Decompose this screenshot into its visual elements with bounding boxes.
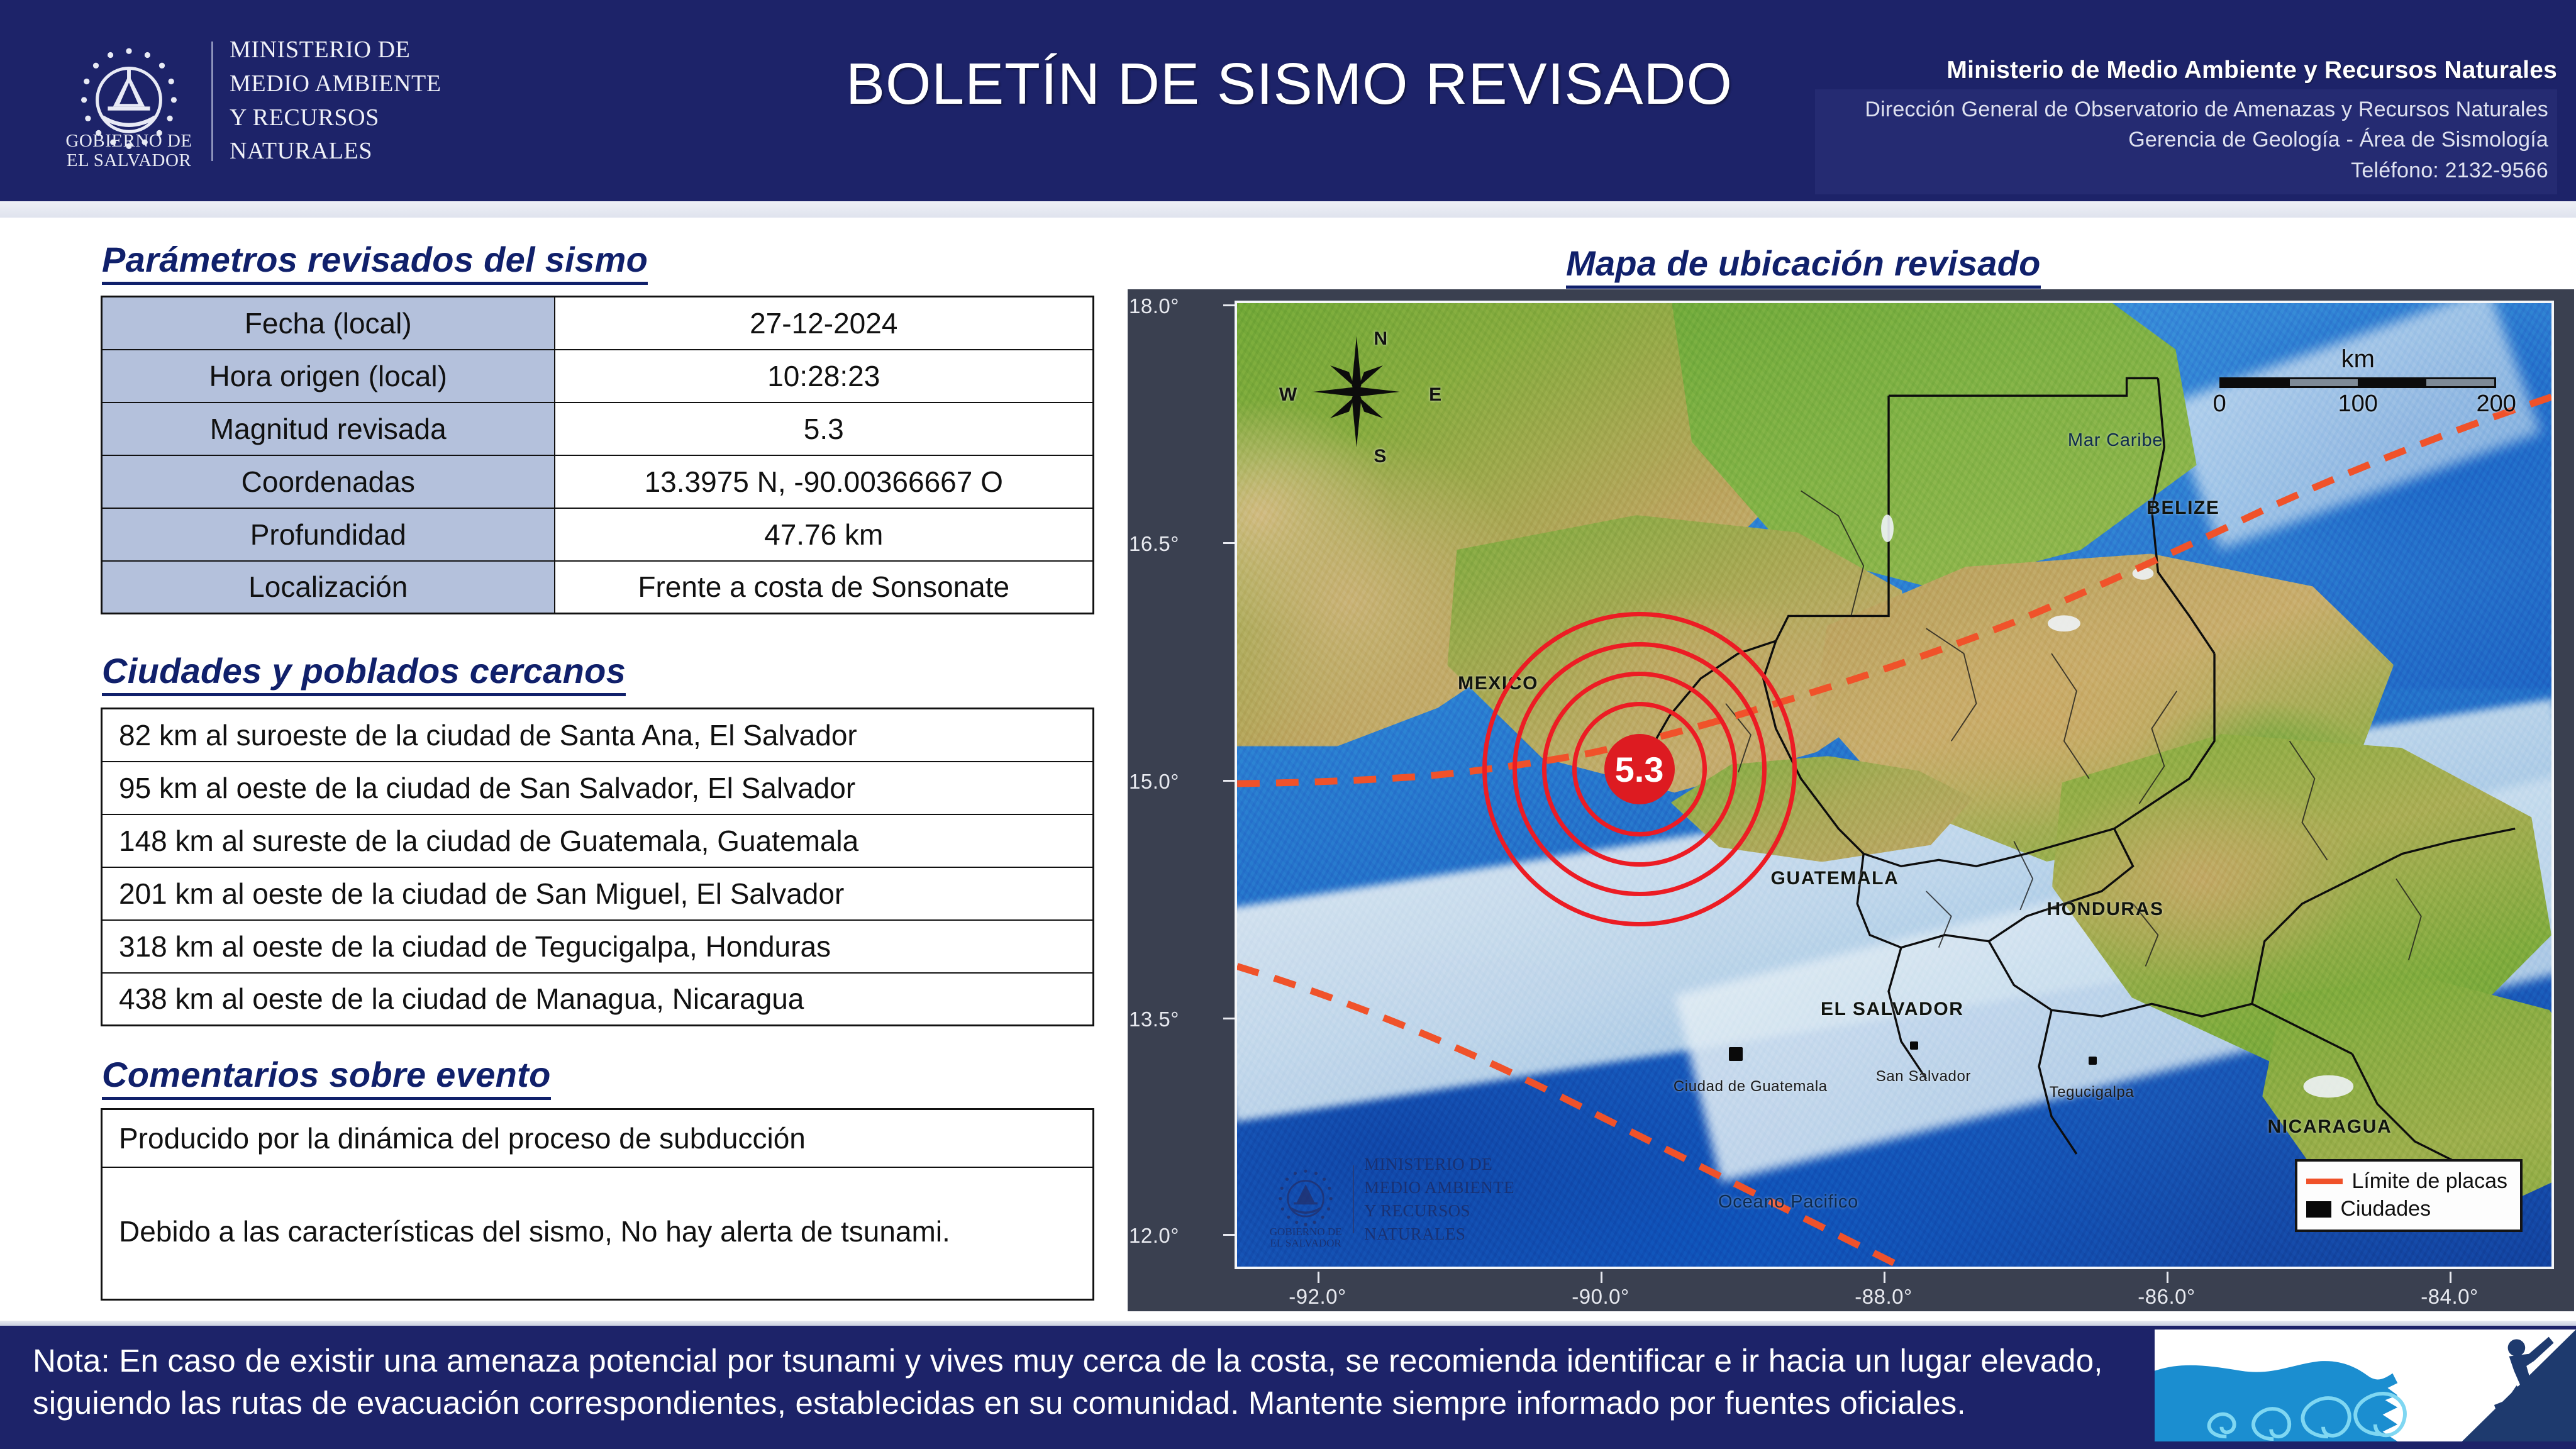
table-row: Localización Frente a costa de Sonsonate xyxy=(102,561,1094,614)
param-label-fecha: Fecha (local) xyxy=(102,297,555,350)
param-label-profundidad: Profundidad xyxy=(102,508,555,561)
lon-tick-mark-90 xyxy=(1601,1272,1602,1283)
map-label-el-salvador: EL SALVADOR xyxy=(1821,999,1964,1020)
logo-divider xyxy=(211,42,213,161)
header-ministry-title: Ministerio de Medio Ambiente y Recursos … xyxy=(1815,57,2557,84)
legend-item-plate-boundary: Límite de placas xyxy=(2306,1168,2507,1196)
scale-tick-0: 0 xyxy=(2213,391,2226,418)
header-department-lines: Dirección General de Observatorio de Ame… xyxy=(1815,89,2557,194)
seal-caption-line-2: EL SALVADOR xyxy=(63,151,195,170)
header-bottom-strip xyxy=(0,201,2576,218)
map-label-guatemala: GUATEMALA xyxy=(1771,868,1899,889)
tsunami-advisory-note: Nota: En caso de existir una amenaza pot… xyxy=(33,1340,2121,1424)
legend-item-cities: Ciudades xyxy=(2306,1196,2507,1223)
param-label-hora: Hora origen (local) xyxy=(102,350,555,402)
city-row-4: 201 km al oeste de la ciudad de San Migu… xyxy=(102,867,1094,920)
comment-row-2: Debido a las características del sismo, … xyxy=(102,1167,1094,1299)
lon-tick-86: -86.0° xyxy=(2116,1285,2217,1309)
lon-tick-mark-92 xyxy=(1318,1272,1319,1283)
lon-tick-mark-84 xyxy=(2450,1272,2451,1283)
compass-label-e: E xyxy=(1429,384,1441,406)
city-row-6: 438 km al oeste de la ciudad de Managua,… xyxy=(102,973,1094,1026)
watermark-gov-line-1: GOBIERNO DE xyxy=(1265,1226,1346,1238)
scale-seg-2 xyxy=(2290,379,2358,386)
earthquake-parameters-table: Fecha (local) 27-12-2024 Hora origen (lo… xyxy=(101,296,1094,614)
watermark-gov-line-2: EL SALVADOR xyxy=(1265,1238,1346,1249)
table-row: 438 km al oeste de la ciudad de Managua,… xyxy=(102,973,1094,1026)
compass-label-s: S xyxy=(1374,446,1386,467)
lon-tick-mark-88 xyxy=(1884,1272,1885,1283)
legend-label-plate-boundary: Límite de placas xyxy=(2351,1169,2507,1194)
header-dept-line-1: Dirección General de Observatorio de Ame… xyxy=(1824,94,2548,125)
seal-caption-line-1: GOBIERNO DE xyxy=(63,131,195,151)
legend-label-cities: Ciudades xyxy=(2340,1197,2431,1221)
marn-logo-header: GOBIERNO DE EL SALVADOR MINISTERIO DE ME… xyxy=(63,30,491,172)
scale-bar-segments xyxy=(2219,377,2496,388)
param-value-fecha: 27-12-2024 xyxy=(555,297,1094,350)
table-row: Hora origen (local) 10:28:23 xyxy=(102,350,1094,402)
lat-tick-15: 15.0° xyxy=(1129,770,1179,794)
page-footer: Nota: En caso de existir una amenaza pot… xyxy=(0,1321,2576,1449)
watermark-divider xyxy=(1353,1165,1354,1233)
event-comments-table: Producido por la dinámica del proceso de… xyxy=(101,1108,1094,1301)
params-section-title: Parámetros revisados del sismo xyxy=(102,239,648,285)
watermark-seal-icon: GOBIERNO DE EL SALVADOR xyxy=(1269,1162,1343,1236)
cities-section-title: Ciudades y poblados cercanos xyxy=(102,650,626,696)
plate-boundary-line-icon xyxy=(2306,1179,2343,1184)
header-department-block: Ministerio de Medio Ambiente y Recursos … xyxy=(1815,57,2557,194)
watermark-line-3: Y RECURSOS xyxy=(1364,1199,1514,1223)
lon-tick-mark-86 xyxy=(2167,1272,2168,1283)
table-row: 201 km al oeste de la ciudad de San Migu… xyxy=(102,867,1094,920)
map-label-nicaragua: NICARAGUA xyxy=(2268,1116,2392,1138)
page-header: GOBIERNO DE EL SALVADOR MINISTERIO DE ME… xyxy=(0,0,2576,201)
header-phone: Teléfono: 2132-9566 xyxy=(1824,155,2548,186)
city-marker-guatemala-city xyxy=(1729,1047,1743,1061)
table-row: 82 km al suroeste de la ciudad de Santa … xyxy=(102,709,1094,762)
tsunami-evacuation-icon xyxy=(2155,1330,2576,1441)
location-map[interactable]: 18.0° 16.5° 15.0° 13.5° 12.0° -92.0° -90… xyxy=(1128,289,2574,1311)
city-marker-tegucigalpa xyxy=(2089,1057,2097,1065)
scale-tick-200: 200 xyxy=(2477,391,2516,418)
table-row: 148 km al sureste de la ciudad de Guatem… xyxy=(102,814,1094,867)
ministry-line-3: Y RECURSOS xyxy=(230,101,441,135)
scale-tick-100: 100 xyxy=(2338,391,2378,418)
table-row: Profundidad 47.76 km xyxy=(102,508,1094,561)
footer-top-strip xyxy=(0,1321,2576,1326)
scale-unit-label: km xyxy=(2219,345,2496,374)
lon-tick-88: -88.0° xyxy=(1833,1285,1934,1309)
scale-numbers: 0 100 200 xyxy=(2219,391,2496,417)
param-value-profundidad: 47.76 km xyxy=(555,508,1094,561)
lon-tick-90: -90.0° xyxy=(1550,1285,1651,1309)
map-label-oceano-pacifico: Oceano Pacifico xyxy=(1718,1192,1858,1213)
ministry-line-1: MINISTERIO DE xyxy=(230,33,441,67)
compass-rose-icon xyxy=(1309,332,1404,452)
watermark-ministry-block: MINISTERIO DE MEDIO AMBIENTE Y RECURSOS … xyxy=(1364,1153,1514,1245)
scale-seg-3 xyxy=(2358,379,2426,386)
map-canvas[interactable]: N S E W km 0 100 200 MEXICO xyxy=(1235,301,2554,1269)
table-row: 95 km al oeste de la ciudad de San Salva… xyxy=(102,762,1094,814)
compass-label-n: N xyxy=(1374,328,1387,350)
map-section-title: Mapa de ubicación revisado xyxy=(1566,243,2041,289)
lat-tick-18: 18.0° xyxy=(1129,294,1179,318)
param-value-magnitud: 5.3 xyxy=(555,402,1094,455)
city-row-3: 148 km al sureste de la ciudad de Guatem… xyxy=(102,814,1094,867)
comments-section-title: Comentarios sobre evento xyxy=(102,1054,551,1100)
nearby-cities-table: 82 km al suroeste de la ciudad de Santa … xyxy=(101,708,1094,1026)
map-label-mar-caribe: Mar Caribe xyxy=(2068,430,2163,451)
watermark-line-4: NATURALES xyxy=(1364,1223,1514,1246)
param-label-magnitud: Magnitud revisada xyxy=(102,402,555,455)
map-scale-bar: km 0 100 200 xyxy=(2219,345,2496,417)
ministry-line-4: NATURALES xyxy=(230,135,441,169)
map-label-san-salvador: San Salvador xyxy=(1876,1068,1971,1085)
watermark-seal-caption: GOBIERNO DE EL SALVADOR xyxy=(1265,1226,1346,1249)
table-row: Fecha (local) 27-12-2024 xyxy=(102,297,1094,350)
param-value-coordenadas: 13.3975 N, -90.00366667 O xyxy=(555,455,1094,508)
seismic-bulletin-page: GOBIERNO DE EL SALVADOR MINISTERIO DE ME… xyxy=(0,0,2576,1449)
city-marker-san-salvador xyxy=(1910,1041,1918,1050)
watermark-line-2: MEDIO AMBIENTE xyxy=(1364,1176,1514,1199)
watermark-line-1: MINISTERIO DE xyxy=(1364,1153,1514,1176)
ministry-name-block: MINISTERIO DE MEDIO AMBIENTE Y RECURSOS … xyxy=(230,33,441,169)
map-label-tegucigalpa: Tegucigalpa xyxy=(2050,1084,2135,1101)
scale-seg-1 xyxy=(2221,379,2290,386)
compass-label-w: W xyxy=(1279,384,1297,406)
lat-tick-16-5: 16.5° xyxy=(1129,532,1179,556)
epicenter-magnitude-badge: 5.3 xyxy=(1604,734,1675,804)
city-row-2: 95 km al oeste de la ciudad de San Salva… xyxy=(102,762,1094,814)
lon-tick-92: -92.0° xyxy=(1267,1285,1368,1309)
map-label-belize: BELIZE xyxy=(2146,497,2219,519)
table-row: Coordenadas 13.3975 N, -90.00366667 O xyxy=(102,455,1094,508)
map-label-honduras: HONDURAS xyxy=(2046,899,2163,920)
map-label-ciudad-de-guatemala: Ciudad de Guatemala xyxy=(1674,1078,1828,1096)
param-value-localizacion: Frente a costa de Sonsonate xyxy=(555,561,1094,614)
page-title: BOLETÍN DE SISMO REVISADO xyxy=(692,50,1887,118)
scale-seg-4 xyxy=(2426,379,2495,386)
map-legend: Límite de placas Ciudades xyxy=(2295,1159,2523,1232)
lon-tick-84: -84.0° xyxy=(2399,1285,2500,1309)
param-label-localizacion: Localización xyxy=(102,561,555,614)
comment-row-1: Producido por la dinámica del proceso de… xyxy=(102,1109,1094,1168)
table-row: Debido a las características del sismo, … xyxy=(102,1167,1094,1299)
city-square-icon xyxy=(2306,1201,2331,1218)
param-value-hora: 10:28:23 xyxy=(555,350,1094,402)
city-row-5: 318 km al oeste de la ciudad de Teguciga… xyxy=(102,920,1094,973)
marn-watermark-map: GOBIERNO DE EL SALVADOR MINISTERIO DE ME… xyxy=(1269,1153,1514,1245)
table-row: Producido por la dinámica del proceso de… xyxy=(102,1109,1094,1168)
lat-tick-13-5: 13.5° xyxy=(1129,1008,1179,1031)
table-row: 318 km al oeste de la ciudad de Teguciga… xyxy=(102,920,1094,973)
table-row: Magnitud revisada 5.3 xyxy=(102,402,1094,455)
ministry-line-2: MEDIO AMBIENTE xyxy=(230,67,441,101)
header-dept-line-2: Gerencia de Geología - Área de Sismologí… xyxy=(1824,125,2548,155)
param-label-coordenadas: Coordenadas xyxy=(102,455,555,508)
city-row-1: 82 km al suroeste de la ciudad de Santa … xyxy=(102,709,1094,762)
lat-tick-12: 12.0° xyxy=(1129,1224,1179,1248)
el-salvador-seal-icon: GOBIERNO DE EL SALVADOR xyxy=(63,35,195,167)
seal-caption: GOBIERNO DE EL SALVADOR xyxy=(63,131,195,171)
